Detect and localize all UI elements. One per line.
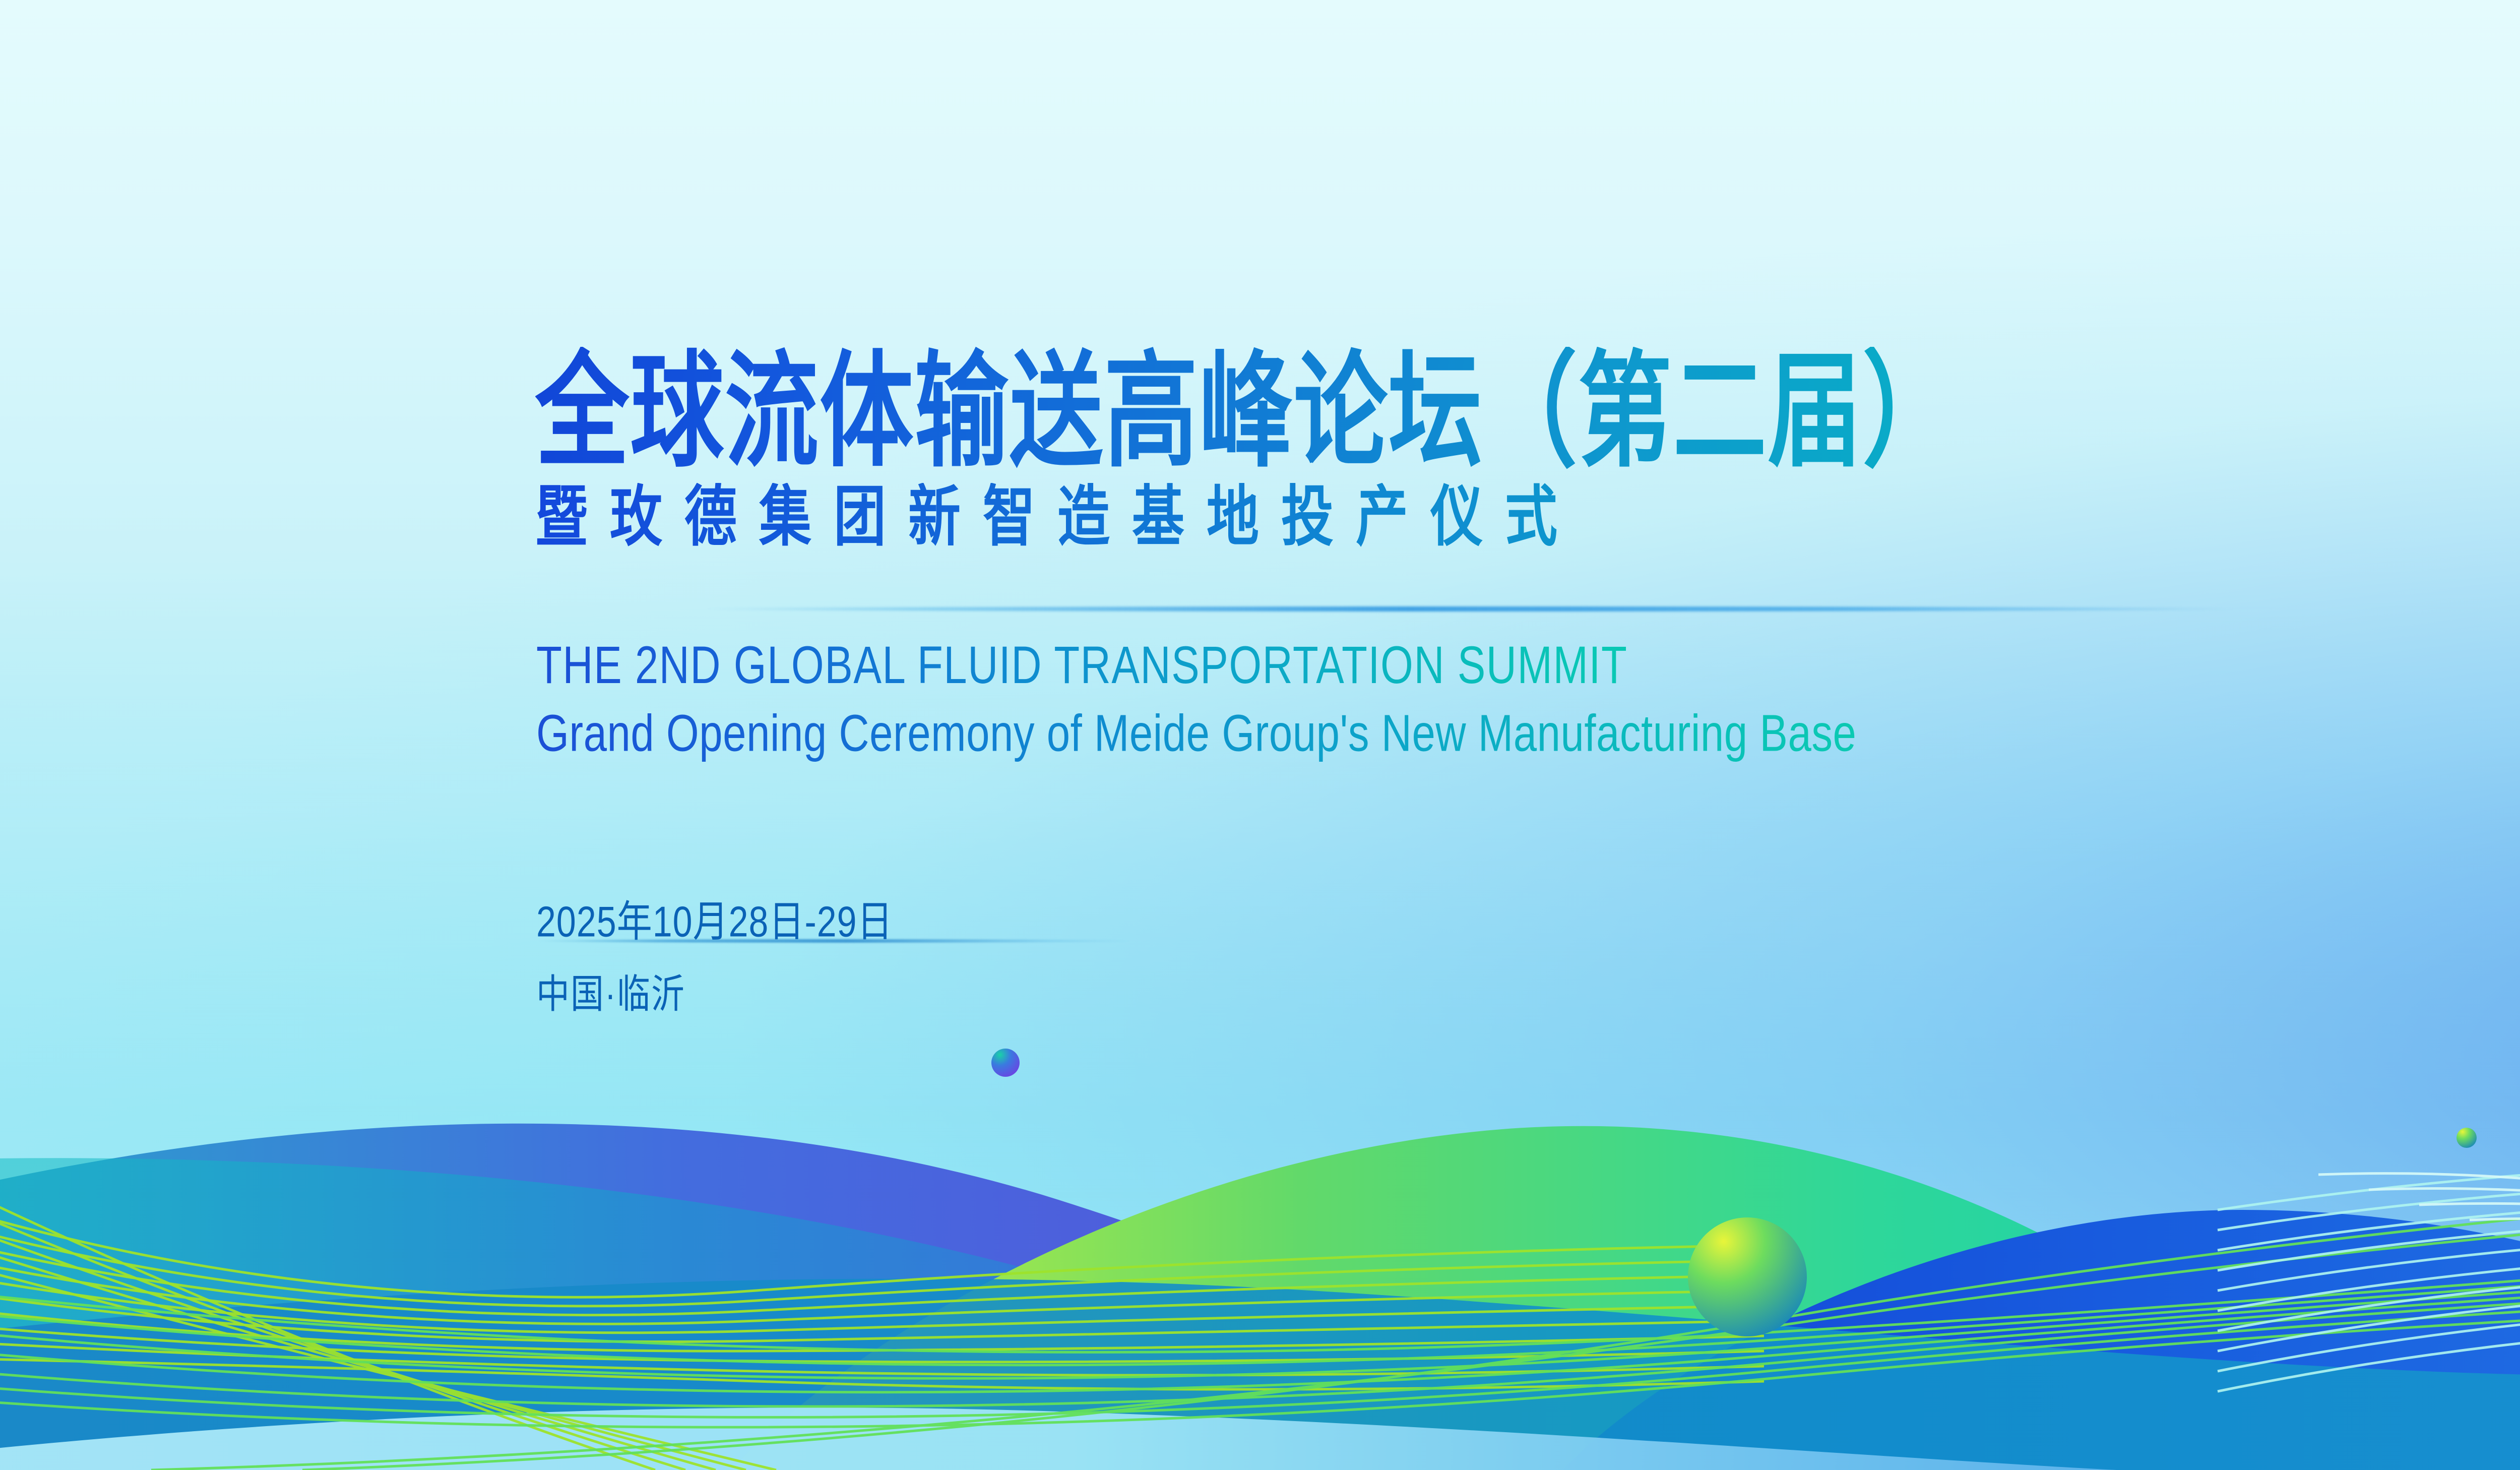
main-title-en: THE 2ND GLOBAL FLUID TRANSPORTATION SUMM…	[536, 635, 1627, 696]
sub-title-en: Grand Opening Ceremony of Meide Group's …	[536, 704, 1856, 764]
sphere-large-green	[1688, 1217, 1807, 1336]
event-meta: 2025年10月28日-29日 中国·临沂	[536, 887, 1121, 938]
title-block: 全球流体输送高峰论坛（第二届） 暨玫德集团新智造基地投产仪式 THE 2ND G…	[535, 347, 2520, 538]
sphere-small-green	[2456, 1128, 2477, 1148]
divider-under-subtitle	[702, 606, 2239, 611]
divider-under-date	[536, 939, 1133, 943]
event-banner: 全球流体输送高峰论坛（第二届） 暨玫德集团新智造基地投产仪式 THE 2ND G…	[0, 0, 2520, 1470]
main-title-cn: 全球流体输送高峰论坛（第二届）	[535, 347, 2520, 477]
sub-title-cn: 暨玫德集团新智造基地投产仪式	[535, 483, 2520, 553]
sphere-small-violet	[991, 1049, 1020, 1077]
event-location: 中国·临沂	[536, 962, 685, 1020]
